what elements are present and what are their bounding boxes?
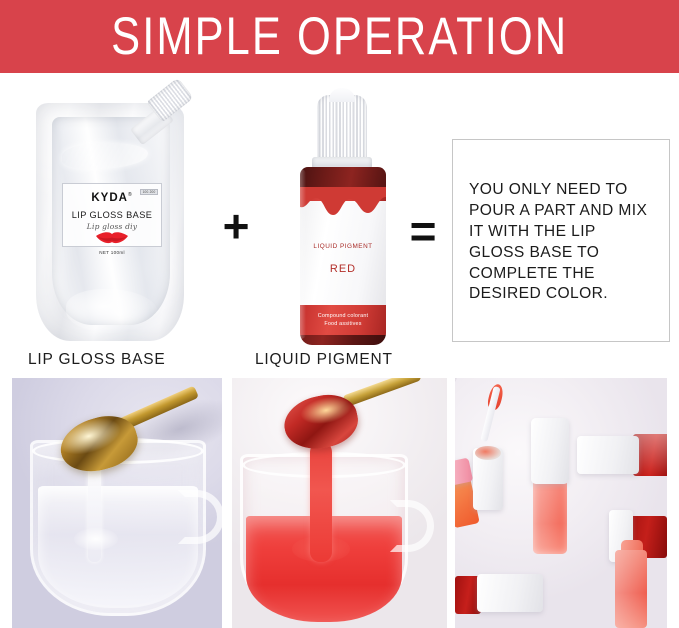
gloss-tube-white-cap-3 (477, 574, 543, 612)
clear-pour-splash (74, 528, 118, 550)
gloss-residue (475, 446, 501, 460)
label-badge: 100.200 (140, 189, 158, 195)
photo-red-gloss-mixed (232, 378, 447, 628)
clear-gloss-liquid (38, 486, 198, 608)
photo-finished-lip-gloss-tubes (455, 378, 667, 628)
gloss-tube-upright-cap (531, 418, 569, 484)
product-tagline: Lip gloss diy (66, 222, 158, 231)
red-pour-stream (310, 442, 332, 562)
instruction-text: YOU ONLY NEED TO POUR A PART AND MIX IT … (469, 180, 655, 305)
caption-lip-gloss-base: LIP GLOSS BASE (28, 351, 166, 369)
instruction-section: 100.200 KYDA® LIP GLOSS BASE Lip gloss d… (0, 73, 679, 378)
label-footer: Compound colorant Food assitives (300, 305, 386, 335)
pouch-label: 100.200 KYDA® LIP GLOSS BASE Lip gloss d… (62, 183, 162, 247)
bottle-body: LIQUID PIGMENT RED Compound colorant Foo… (300, 167, 386, 345)
photo-clear-gloss-base (12, 378, 222, 628)
pouch-spout (132, 85, 194, 147)
footer-line-1: Compound colorant (300, 312, 386, 320)
net-volume: NET 100ml (66, 250, 158, 255)
liquid-pigment-bottle: LIQUID PIGMENT RED Compound colorant Foo… (290, 95, 396, 347)
gloss-tube-white-cap-horizontal (577, 436, 639, 474)
lips-icon (95, 232, 129, 244)
bottle-cap (317, 95, 367, 161)
footer-line-2: Food assitives (300, 320, 386, 328)
plus-operator: + (208, 203, 264, 249)
bottle-label: LIQUID PIGMENT RED Compound colorant Foo… (300, 187, 386, 335)
pigment-type-label: LIQUID PIGMENT (300, 243, 386, 250)
instruction-textbox: YOU ONLY NEED TO POUR A PART AND MIX IT … (452, 139, 670, 342)
paint-drip-icon (300, 187, 386, 219)
pigment-color-label: RED (300, 263, 386, 275)
brand-name: KYDA® (91, 192, 132, 204)
brand-text: KYDA (91, 192, 128, 204)
gloss-tube-open-body (615, 550, 647, 628)
lip-gloss-base-pouch: 100.200 KYDA® LIP GLOSS BASE Lip gloss d… (28, 85, 194, 347)
equals-operator: = (398, 208, 448, 254)
gloss-tube-upright-body (533, 478, 567, 554)
registered-mark-icon: ® (128, 192, 133, 198)
gold-spoon (60, 396, 172, 466)
header-banner: SIMPLE OPERATION (0, 0, 679, 73)
photo-row (0, 378, 679, 628)
product-name: LIP GLOSS BASE (66, 210, 158, 220)
cup-handle (178, 490, 222, 544)
pouch-highlight-bottom (66, 289, 158, 333)
caption-liquid-pigment: LIQUID PIGMENT (255, 351, 393, 369)
page-title: SIMPLE OPERATION (111, 10, 568, 63)
